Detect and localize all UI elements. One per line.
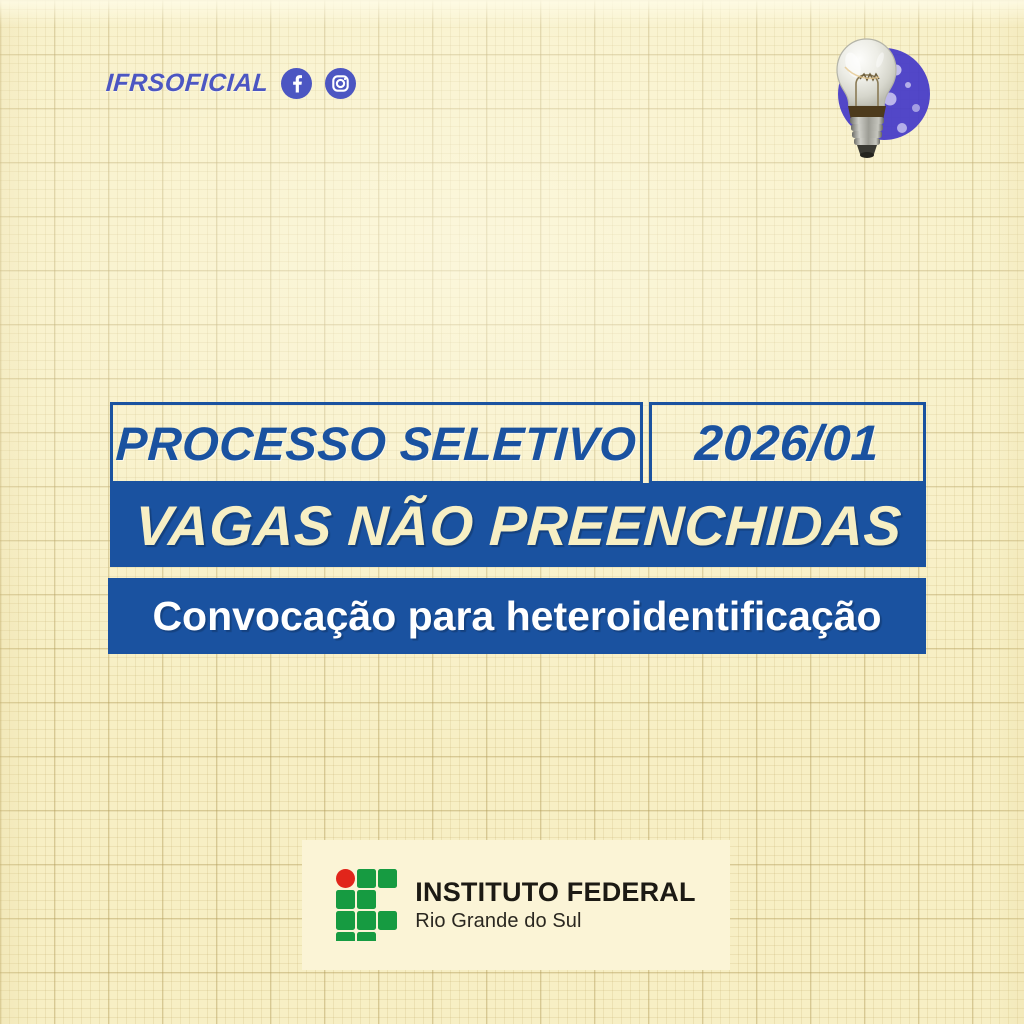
subtitle-banner-text: Convocação para heteroidentificação xyxy=(152,593,881,640)
lightbulb-decoration xyxy=(784,22,944,177)
instagram-icon[interactable] xyxy=(325,68,356,99)
social-handle-bar: IFRSOFICIAL xyxy=(106,68,356,99)
status-banner: VAGAS NÃO PREENCHIDAS xyxy=(110,483,926,567)
poster-canvas: IFRSOFICIAL xyxy=(0,0,1024,1024)
account-handle: IFRSOFICIAL xyxy=(105,69,269,98)
bulb-base xyxy=(848,106,886,118)
process-title-text: PROCESSO SELETIVO xyxy=(115,416,638,471)
facebook-icon[interactable] xyxy=(281,68,312,99)
institution-logo-plaque: INSTITUTO FEDERAL Rio Grande do Sul xyxy=(302,840,730,970)
subtitle-banner: Convocação para heteroidentificação xyxy=(108,578,926,654)
process-title-row: PROCESSO SELETIVO 2026/01 xyxy=(110,402,926,484)
institution-region: Rio Grande do Sul xyxy=(415,911,695,931)
institution-wordmark: INSTITUTO FEDERAL Rio Grande do Sul xyxy=(415,879,695,931)
year-badge-text: 2026/01 xyxy=(694,414,881,472)
status-banner-text: VAGAS NÃO PREENCHIDAS xyxy=(133,493,903,558)
instituto-federal-mark-icon xyxy=(336,869,398,941)
headline-block: PROCESSO SELETIVO 2026/01 VAGAS NÃO PREE… xyxy=(110,402,926,654)
process-title-box: PROCESSO SELETIVO xyxy=(110,402,643,484)
year-badge-box: 2026/01 xyxy=(649,402,926,484)
institution-name: INSTITUTO FEDERAL xyxy=(415,879,695,906)
